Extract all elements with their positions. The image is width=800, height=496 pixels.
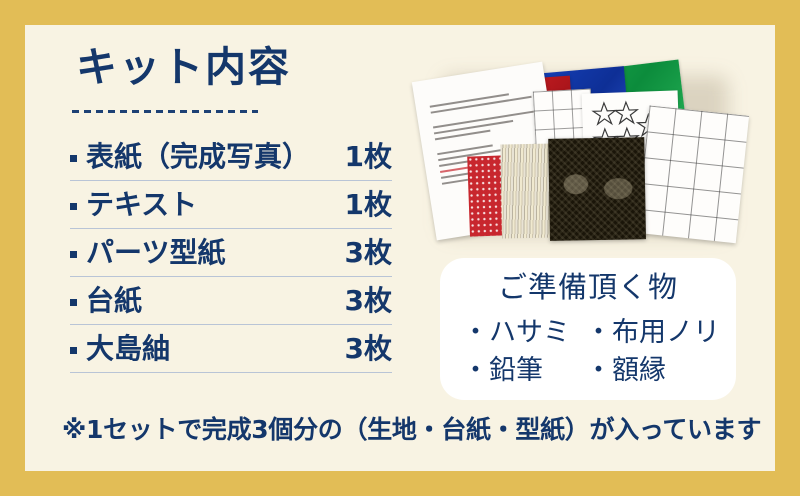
striped-fabric-swatch xyxy=(500,144,554,239)
prepare-items-card: ご準備頂く物 ・ハサミ ・布用ノリ ・鉛筆 ・額縁 xyxy=(440,258,736,400)
kit-item-name: パーツ型紙 xyxy=(86,239,225,267)
square-bullet-icon xyxy=(70,299,77,306)
footer-note: ※1セットで完成3個分の（生地・台紙・型紙）が入っています xyxy=(62,417,761,442)
red-dotted-fabric-swatch xyxy=(467,155,504,236)
kit-item-name: テキスト xyxy=(86,191,197,219)
list-item: 大島紬 3枚 xyxy=(70,325,392,373)
kimono-pattern-texture xyxy=(548,137,646,241)
oshima-tsumugi-fabric-swatch xyxy=(548,137,646,241)
square-bullet-icon xyxy=(70,155,77,162)
list-item: テキスト 1枚 xyxy=(70,181,392,229)
prepare-item: ・布用ノリ xyxy=(585,316,720,348)
square-bullet-icon xyxy=(70,203,77,210)
kit-item-quantity: 3枚 xyxy=(345,239,392,267)
page-title: キット内容 xyxy=(76,47,291,88)
prepare-items-grid: ・ハサミ ・布用ノリ ・鉛筆 ・額縁 xyxy=(462,316,720,387)
square-bullet-icon xyxy=(70,251,77,258)
list-item: 台紙 3枚 xyxy=(70,277,392,325)
kit-contents-infographic: キット内容 表紙（完成写真） 1枚 テキスト 1枚 パーツ型紙 3枚 台紙 3枚… xyxy=(0,0,800,496)
list-item: 表紙（完成写真） 1枚 xyxy=(70,133,392,181)
prepare-item: ・鉛筆 xyxy=(462,354,585,386)
kit-item-quantity: 3枚 xyxy=(345,335,392,363)
kit-contents-photo xyxy=(424,56,744,246)
square-bullet-icon xyxy=(70,347,77,354)
title-underline-dashes xyxy=(72,110,258,113)
kit-item-quantity: 1枚 xyxy=(345,143,392,171)
kit-item-name: 表紙（完成写真） xyxy=(86,143,310,171)
kit-item-name: 大島紬 xyxy=(86,335,170,363)
kit-item-quantity: 1枚 xyxy=(345,191,392,219)
grid-template-sheet xyxy=(636,105,749,243)
kit-contents-list: 表紙（完成写真） 1枚 テキスト 1枚 パーツ型紙 3枚 台紙 3枚 大島紬 3… xyxy=(70,133,392,373)
kit-item-name: 台紙 xyxy=(86,287,142,315)
prepare-title: ご準備頂く物 xyxy=(440,274,736,303)
prepare-item: ・ハサミ xyxy=(462,316,585,348)
kit-item-quantity: 3枚 xyxy=(345,287,392,315)
list-item: パーツ型紙 3枚 xyxy=(70,229,392,277)
prepare-item: ・額縁 xyxy=(585,354,720,386)
